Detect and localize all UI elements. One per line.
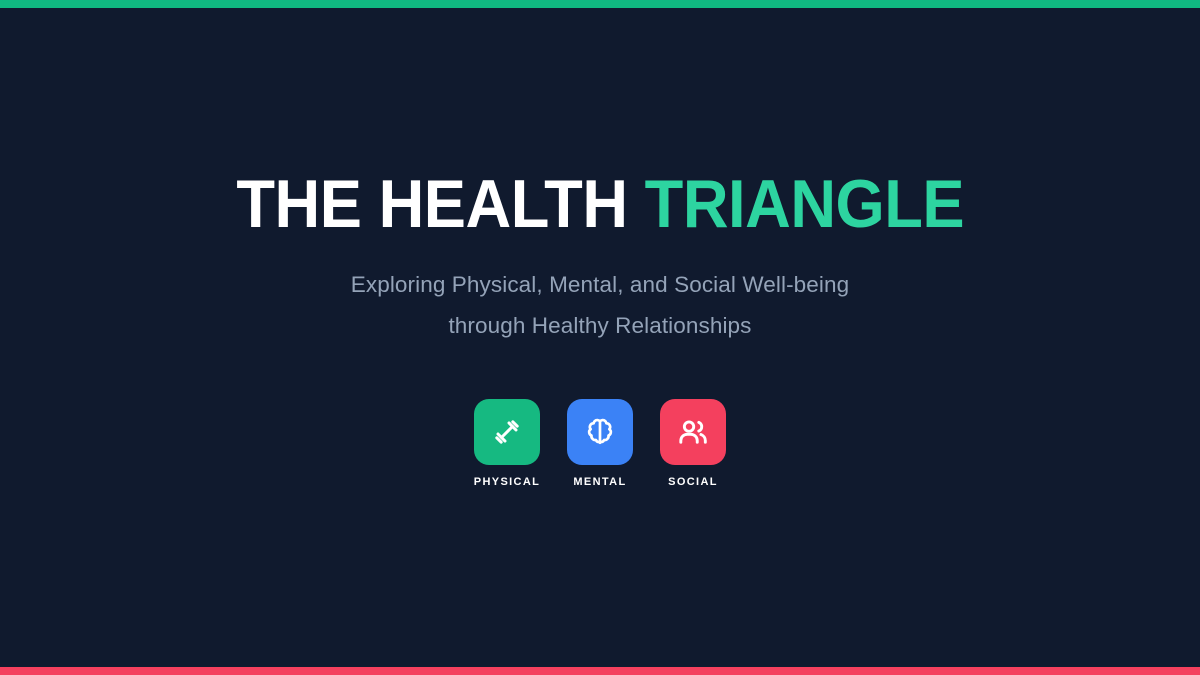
pillar-label-mental: MENTAL xyxy=(573,476,626,488)
page-title-accent: TRIANGLE xyxy=(644,166,963,242)
pillar-card-social[interactable] xyxy=(660,399,726,465)
pillar-item-physical[interactable]: PHYSICAL xyxy=(474,399,540,488)
accent-bar-bottom xyxy=(0,667,1200,675)
pillar-list: PHYSICAL MENTAL xyxy=(474,399,726,488)
page-title-primary: THE HEALTH xyxy=(236,166,644,242)
page-title: THE HEALTH TRIANGLE xyxy=(236,170,964,238)
dumbbell-icon xyxy=(490,415,524,449)
users-icon xyxy=(676,415,710,449)
accent-bar-top xyxy=(0,0,1200,8)
brain-icon xyxy=(583,415,617,449)
pillar-item-social[interactable]: SOCIAL xyxy=(660,399,726,488)
pillar-card-mental[interactable] xyxy=(567,399,633,465)
pillar-card-physical[interactable] xyxy=(474,399,540,465)
pillar-label-physical: PHYSICAL xyxy=(474,476,540,488)
slide-content: THE HEALTH TRIANGLE Exploring Physical, … xyxy=(209,170,992,488)
page-subtitle: Exploring Physical, Mental, and Social W… xyxy=(351,264,849,346)
pillar-label-social: SOCIAL xyxy=(668,476,718,488)
pillar-item-mental[interactable]: MENTAL xyxy=(567,399,633,488)
page-subtitle-line-2: through Healthy Relationships xyxy=(351,305,849,346)
page-subtitle-line-1: Exploring Physical, Mental, and Social W… xyxy=(351,264,849,305)
slide-canvas: THE HEALTH TRIANGLE Exploring Physical, … xyxy=(0,0,1200,675)
